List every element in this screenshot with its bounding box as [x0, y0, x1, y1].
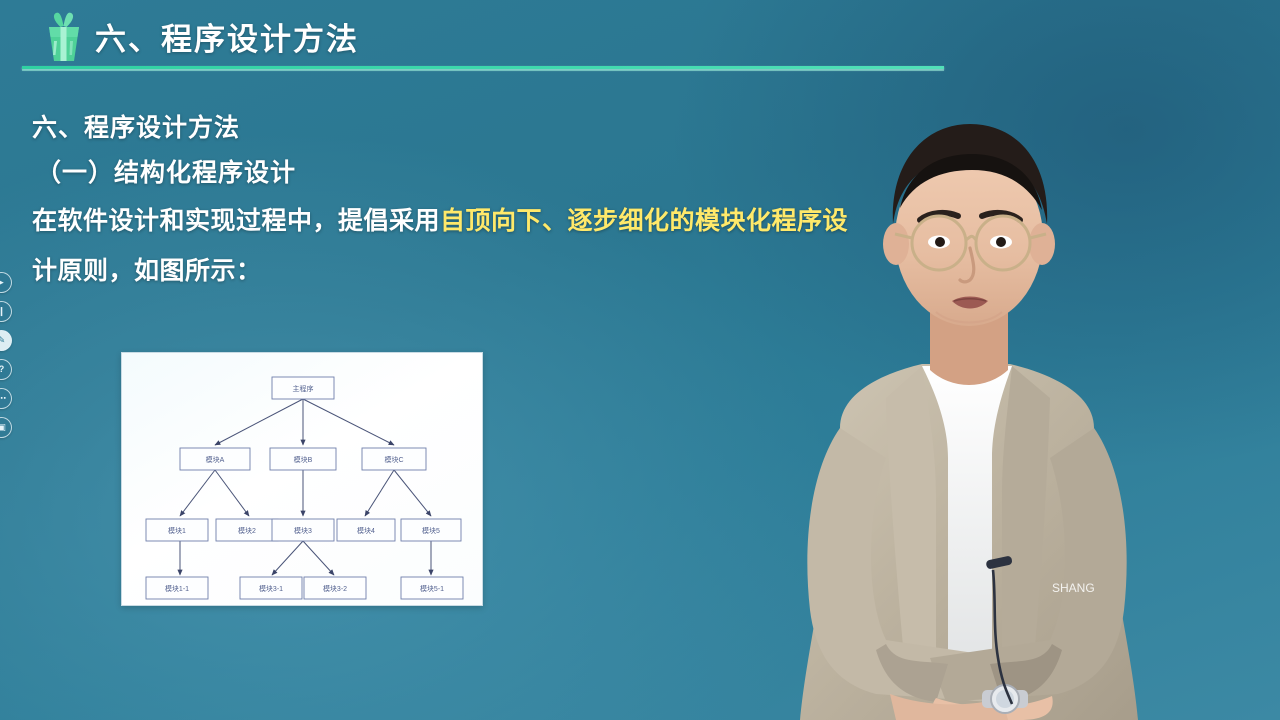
node-main-label: 主程序 — [293, 384, 314, 393]
edge-3-32 — [303, 541, 334, 575]
edge-main-c — [303, 399, 394, 445]
node-2-label: 模块2 — [238, 526, 256, 535]
node-4-label: 模块4 — [357, 526, 375, 535]
edge-3-31 — [272, 541, 303, 575]
cardigan-print: SHANG — [1052, 581, 1095, 595]
node-a-label: 模块A — [206, 455, 225, 464]
player-toolbar[interactable]: ▸ ❙ ✎ ? ⋯ ▣ — [0, 272, 19, 438]
pen-icon[interactable]: ✎ — [0, 330, 12, 351]
presenter-head — [883, 124, 1055, 326]
more-icon[interactable]: ⋯ — [0, 388, 12, 409]
title-underline — [22, 66, 944, 69]
edge-c-4 — [365, 470, 394, 516]
presenter-video-overlay: SHANG — [690, 98, 1250, 720]
module-hierarchy-diagram: 主程序 模块A 模块B 模块C 模块1 模块2 模块3 模块4 模块5 模块1-… — [121, 352, 483, 606]
node-5-1-label: 模块5-1 — [420, 584, 444, 593]
node-3-label: 模块3 — [294, 526, 312, 535]
node-5-label: 模块5 — [422, 526, 440, 535]
node-3-1-label: 模块3-1 — [259, 584, 283, 593]
diagram-canvas: 主程序 模块A 模块B 模块C 模块1 模块2 模块3 模块4 模块5 模块1-… — [122, 353, 484, 607]
edge-a-1 — [180, 470, 215, 516]
video-lesson-stage: 六、程序设计方法 六、程序设计方法 （一）结构化程序设计 在软件设计和实现过程中… — [0, 0, 1280, 720]
pause-icon[interactable]: ❙ — [0, 301, 12, 322]
node-b-label: 模块B — [294, 455, 313, 464]
camera-icon[interactable]: ▣ — [0, 417, 12, 438]
slide-header: 六、程序设计方法 — [0, 0, 1280, 78]
gift-box-icon — [40, 11, 88, 63]
edge-a-2 — [215, 470, 249, 516]
paragraph-text-normal: 在软件设计和实现过程中，提倡采用 — [32, 207, 440, 235]
play-icon[interactable]: ▸ — [0, 272, 12, 293]
node-3-2-label: 模块3-2 — [323, 584, 347, 593]
edge-main-a — [215, 399, 303, 445]
edge-c-5 — [394, 470, 431, 516]
node-1-label: 模块1 — [168, 526, 186, 535]
help-icon[interactable]: ? — [0, 359, 12, 380]
node-c-label: 模块C — [384, 455, 403, 464]
node-1-1-label: 模块1-1 — [165, 584, 189, 593]
page-title: 六、程序设计方法 — [95, 14, 359, 59]
presenter-figure: SHANG — [690, 98, 1250, 720]
